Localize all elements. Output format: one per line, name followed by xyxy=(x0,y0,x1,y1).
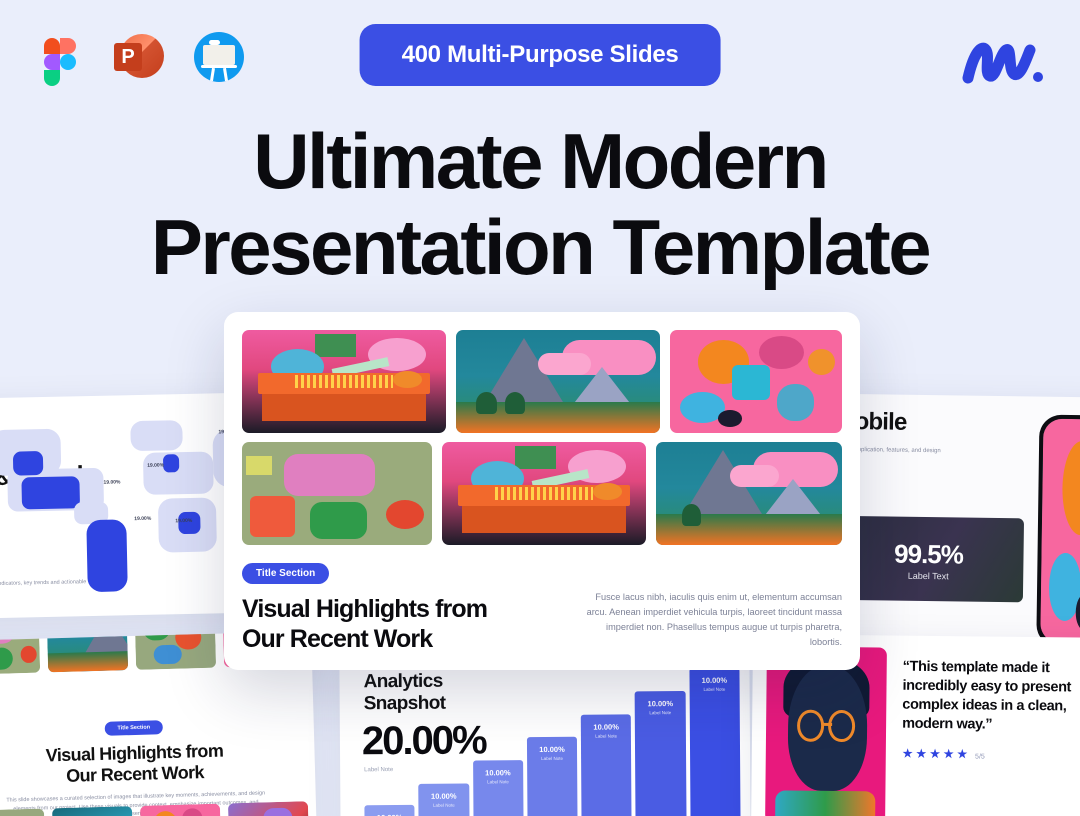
hero-line-2: Presentation Template xyxy=(0,204,1080,290)
mobile-stat-card: 99.5% Label Text xyxy=(833,516,1024,603)
main-card-text: Title Section Visual Highlights from Our… xyxy=(242,563,559,654)
slide-analytics-snapshot[interactable]: Analytics Snapshot 20.00% Label Note 10.… xyxy=(339,657,750,816)
bar-3: 10.00%Label Note xyxy=(473,760,524,816)
vh-text-block: Title Section Visual Highlights from Our… xyxy=(0,711,316,816)
grid-image-2[interactable] xyxy=(456,330,660,433)
portrait-image xyxy=(765,646,887,816)
vh-badge: Title Section xyxy=(104,720,163,736)
bar-caption: Label Note xyxy=(689,686,739,691)
vh-image xyxy=(140,804,222,816)
vh-title: Visual Highlights from Our Recent Work xyxy=(0,738,315,790)
grid-image-4[interactable] xyxy=(242,442,432,545)
vh-image xyxy=(46,631,128,672)
stars-glyphs: ★★★★★ xyxy=(902,746,970,762)
bar-value: 10.00% xyxy=(689,675,739,684)
slides-count-badge: 400 Multi-Purpose Slides xyxy=(360,24,721,86)
mobile-stat-value: 99.5% xyxy=(833,538,1023,572)
main-card-title: Visual Highlights from Our Recent Work xyxy=(242,594,559,654)
rating-score: 5/5 xyxy=(975,753,985,760)
vh-image xyxy=(228,801,310,816)
grid-image-1[interactable] xyxy=(242,330,446,433)
bar-value: 10.00% xyxy=(419,792,469,801)
map-label: 19.00% xyxy=(134,516,151,522)
phone-artwork xyxy=(1040,419,1080,645)
main-card-paragraph: Fusce lacus nibh, iaculis quis enim ut, … xyxy=(577,590,842,654)
main-card-title-line-1: Visual Highlights from xyxy=(242,594,559,624)
powerpoint-icon[interactable]: P xyxy=(110,28,168,86)
title-section-badge[interactable]: Title Section xyxy=(242,563,329,584)
testimonial-quote: “This template made it incredibly easy t… xyxy=(902,658,1080,736)
phone-mockup xyxy=(1036,415,1080,649)
phone-screen xyxy=(1040,419,1080,645)
vh-image xyxy=(0,631,40,675)
rating-stars: ★★★★★5/5 xyxy=(902,746,985,763)
vh-image xyxy=(52,806,134,816)
keynote-icon[interactable] xyxy=(190,28,248,86)
powerpoint-letter: P xyxy=(114,43,142,71)
mobile-stat-label: Label Text xyxy=(833,570,1023,583)
bar-caption: Label Note xyxy=(581,733,631,738)
main-slide-card[interactable]: Title Section Visual Highlights from Our… xyxy=(224,312,860,670)
bar-value: 10.00% xyxy=(635,699,685,708)
bar-value: 10.00% xyxy=(581,722,631,731)
image-grid-row-1 xyxy=(242,330,842,433)
map-label: 19.00% xyxy=(147,462,164,468)
bar-chart: 10.00%Label Note10.00%Label Note10.00%La… xyxy=(363,659,740,816)
image-grid-row-2 xyxy=(242,442,842,545)
bar-caption: Label Note xyxy=(473,779,523,784)
app-icon-row: P xyxy=(30,28,248,86)
figma-icon[interactable] xyxy=(30,28,88,86)
map-label: 19.00% xyxy=(103,479,120,485)
bar-value: 10.00% xyxy=(527,745,577,754)
grid-image-6[interactable] xyxy=(656,442,842,545)
brand-logo-icon xyxy=(960,34,1046,90)
main-card-title-line-2: Our Recent Work xyxy=(242,624,559,654)
map-label: 19.00% xyxy=(175,518,192,524)
page-stage: P 400 Multi-Purpose Slides Ultimate Mode… xyxy=(0,0,1080,816)
bar-caption: Label Note xyxy=(419,803,469,808)
bar-2: 10.00%Label Note xyxy=(419,784,470,816)
bar-6: 10.00%Label Note xyxy=(635,691,686,816)
bar-4: 10.00%Label Note xyxy=(527,737,578,816)
bar-7: 10.00%Label Note xyxy=(689,667,740,816)
main-card-footer: Title Section Visual Highlights from Our… xyxy=(242,563,842,654)
bar-caption: Label Note xyxy=(527,756,577,761)
bar-1: 10.00%Label Note xyxy=(364,805,415,816)
vh-image xyxy=(0,809,46,816)
grid-image-3[interactable] xyxy=(670,330,842,433)
bar-5: 10.00%Label Note xyxy=(581,714,632,816)
bar-value: 10.00% xyxy=(473,768,523,777)
bar-caption: Label Note xyxy=(635,710,685,715)
hero-line-1: Ultimate Modern xyxy=(0,118,1080,204)
grid-image-5[interactable] xyxy=(442,442,646,545)
vh-image xyxy=(134,631,216,670)
page-title: Ultimate Modern Presentation Template xyxy=(0,118,1080,290)
